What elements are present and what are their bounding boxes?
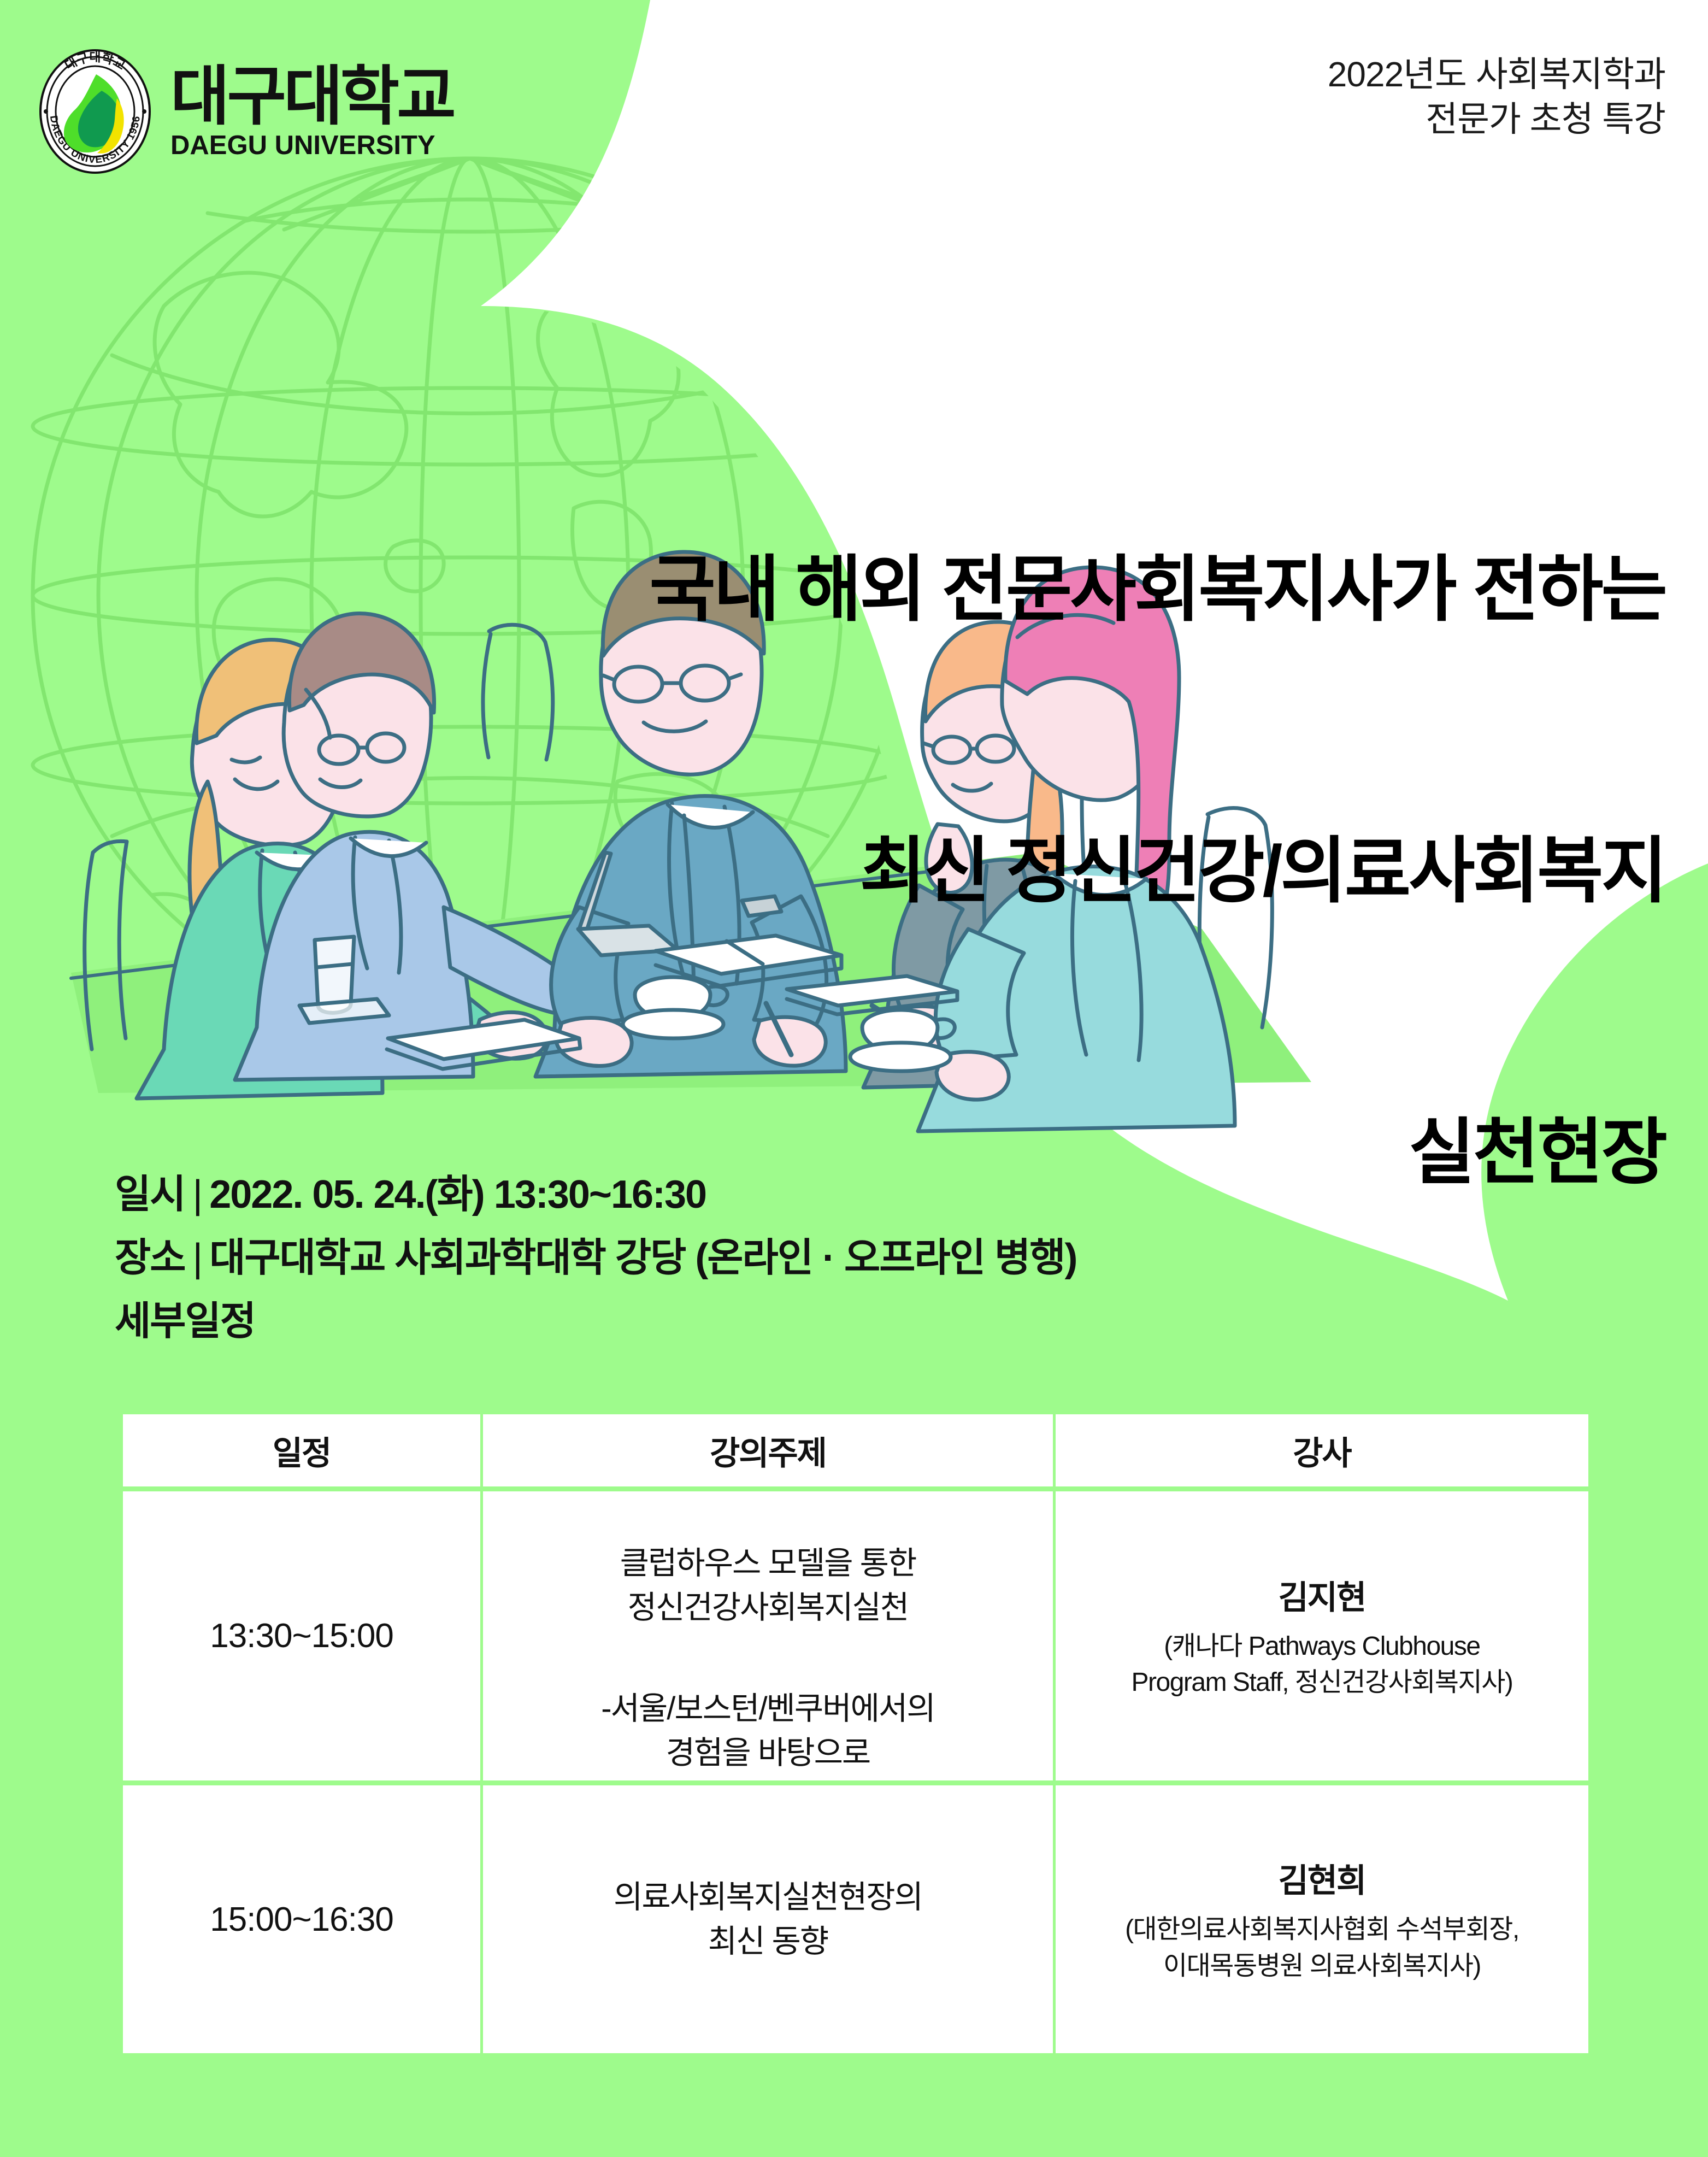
date-separator: | (185, 1175, 209, 1214)
row2-time: 15:00~16:30 (123, 1785, 483, 2053)
header-line-2: 전문가 초청 특강 (1328, 97, 1665, 142)
row2-topic: 의료사회복지실천현장의 최신 동향 (483, 1785, 1056, 2053)
col-header-time: 일정 (123, 1414, 483, 1491)
date-row: 일시|2022. 05. 24.(화) 13:30~16:30 (115, 1175, 1076, 1214)
table-header-row: 일정 강의주제 강사 (123, 1414, 1588, 1491)
schedule-section-label: 세부일정 (115, 1302, 1076, 1341)
university-logo: 대구대학교 DAEGU UNIVERSITY 1956 대구대학교 DAEGU … (32, 48, 453, 175)
table-row: 13:30~15:00 클럽하우스 모델을 통한 정신건강사회복지실천 -서울/… (123, 1491, 1588, 1785)
row2-lecturer-name: 김현희 (1063, 1854, 1581, 1902)
logo-korean-name: 대구대학교 (170, 64, 453, 129)
venue-value: 대구대학교 사회과학대학 강당 (온라인 · 오프라인 병행) (209, 1236, 1076, 1280)
table-row: 15:00~16:30 의료사회복지실천현장의 최신 동향 김현희 (대한의료사… (123, 1785, 1588, 2053)
row1-topic-main: 클럽하우스 모델을 통한 정신건강사회복지실천 (620, 1545, 916, 1625)
event-info-block: 일시|2022. 05. 24.(화) 13:30~16:30 장소|대구대학교… (115, 1175, 1076, 1341)
row1-lecturer-affiliation: (캐나다 Pathways Clubhouse Program Staff, 정… (1063, 1629, 1581, 1701)
logo-english-name: DAEGU UNIVERSITY (170, 132, 453, 159)
title-line-2: 최신 정신건강/의료사회복지 (649, 824, 1665, 918)
poster-canvas: 대구대학교 DAEGU UNIVERSITY 1956 대구대학교 DAEGU … (0, 0, 1708, 2157)
date-value: 2022. 05. 24.(화) 13:30~16:30 (209, 1173, 706, 1216)
venue-separator: | (185, 1238, 209, 1278)
header-line-1: 2022년도 사회복지학과 (1328, 52, 1665, 97)
row1-topic: 클럽하우스 모델을 통한 정신건강사회복지실천 -서울/보스턴/벤쿠버에서의 경… (483, 1491, 1056, 1785)
event-series-header: 2022년도 사회복지학과 전문가 초청 특강 (1328, 52, 1665, 142)
venue-row: 장소|대구대학교 사회과학대학 강당 (온라인 · 오프라인 병행) (115, 1238, 1076, 1278)
university-seal-icon: 대구대학교 DAEGU UNIVERSITY 1956 (32, 48, 158, 175)
venue-label: 장소 (115, 1238, 185, 1278)
row1-lecturer-name: 김지현 (1063, 1571, 1581, 1619)
row1-topic-sub: -서울/보스턴/벤쿠버에서의 경험을 바탕으로 (601, 1691, 935, 1771)
date-label: 일시 (115, 1175, 185, 1214)
schedule-table: 일정 강의주제 강사 13:30~15:00 클럽하우스 모델을 통한 정신건강… (123, 1414, 1588, 2053)
row1-time: 13:30~15:00 (123, 1491, 483, 1785)
title-line-1: 국내 해외 전문사회복지사가 전하는 (649, 543, 1665, 637)
row1-lecturer: 김지현 (캐나다 Pathways Clubhouse Program Staf… (1056, 1491, 1588, 1785)
row2-lecturer-affiliation: (대한의료사회복지사협회 수석부회장, 이대목동병원 의료사회복지사) (1063, 1912, 1581, 1984)
row1-topic-spacer (491, 1630, 1045, 1642)
col-header-topic: 강의주제 (483, 1414, 1056, 1491)
col-header-lecturer: 강사 (1056, 1414, 1588, 1491)
row2-lecturer: 김현희 (대한의료사회복지사협회 수석부회장, 이대목동병원 의료사회복지사) (1056, 1785, 1588, 2053)
